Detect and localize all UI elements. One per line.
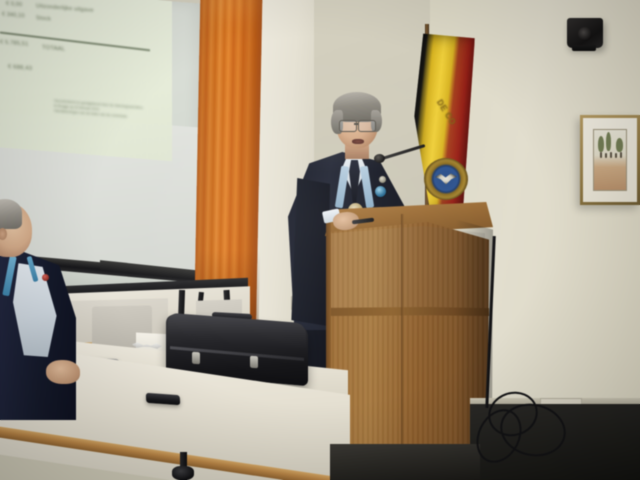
- zipper-pull-icon[interactable]: [192, 352, 200, 365]
- glasses-lens-right: [358, 120, 376, 132]
- slide-row-1-amount: € 0,00: [6, 1, 22, 8]
- lectern-corner-seam: [401, 214, 404, 474]
- speaker-mouth: [352, 139, 364, 144]
- slide-footer-block: Gecontroleerd en goedgekeurd door de rek…: [54, 99, 143, 121]
- attendee-badge-pin: [42, 274, 49, 281]
- glasses-lens-left: [339, 120, 357, 132]
- speaker-lapel-pin: [375, 186, 386, 197]
- picture-artwork: [593, 129, 627, 191]
- framed-picture: [580, 115, 640, 205]
- zipper-pull-icon[interactable]: [250, 356, 258, 369]
- speaker-cone: [578, 27, 592, 41]
- speaker-bracket: [572, 45, 596, 51]
- slide-total-amount: € 5.785,51: [0, 39, 28, 47]
- slide-row-2-label: Stock: [36, 15, 51, 22]
- floor-centre: [330, 444, 480, 480]
- slide-row-1-label: Uitzonderlijke uitgave: [36, 3, 94, 14]
- conference-room-photo: Allerlei € 0,00 Uitzonderlijke uitgave €…: [0, 0, 640, 480]
- slide-total-label: TOTAAL: [42, 45, 65, 53]
- attendee-hand: [46, 360, 80, 384]
- slide-row-2-amount: € 340,10: [2, 12, 25, 20]
- glasses-bridge: [354, 123, 359, 125]
- speaker-lapel-pin-secondary: [379, 176, 386, 183]
- slide-balance-amount: € 688,43: [8, 64, 32, 72]
- projected-slide: Allerlei € 0,00 Uitzonderlijke uitgave €…: [0, 0, 172, 161]
- table-caster-wheel: [172, 466, 194, 480]
- picture-mat: [583, 118, 637, 202]
- microphone-icon[interactable]: [374, 154, 385, 163]
